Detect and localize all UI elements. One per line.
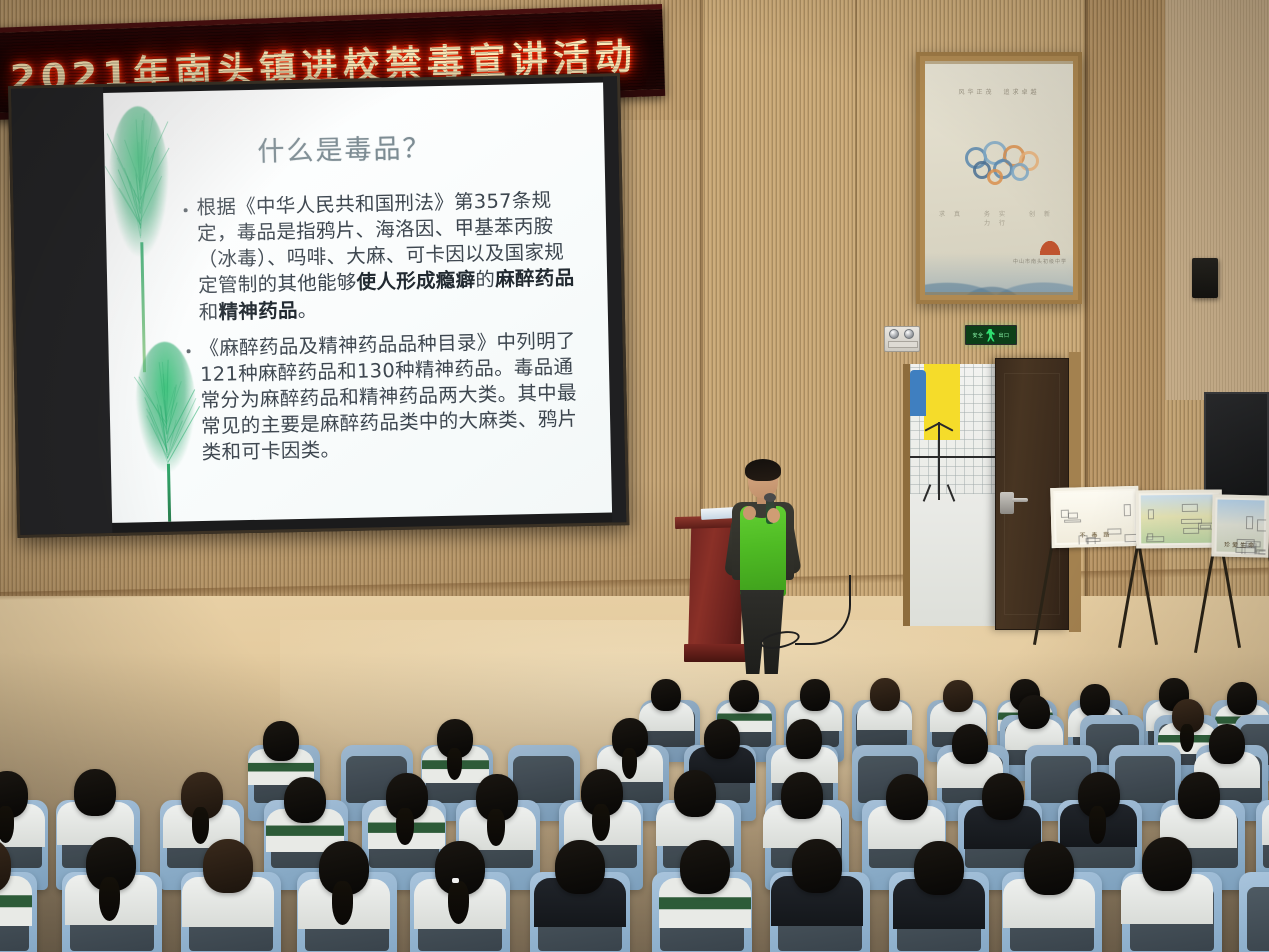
student-ponytail	[1089, 806, 1107, 843]
student-ponytail	[332, 881, 353, 924]
presenter-hand-left	[743, 506, 756, 520]
artwork-canvas: 不 毒 路	[1055, 491, 1134, 543]
student-head	[914, 841, 964, 895]
far-right-wall	[1165, 0, 1269, 400]
artwork-canvas: 珍爱生命	[1216, 500, 1264, 553]
cloud-swirl-icon	[1011, 163, 1029, 181]
coat-rack	[938, 422, 940, 500]
slide-bullet-text: 《麻醉药品及精神药品品种目录》中列明了121种麻醉药品和130种精神药品。毒品通…	[199, 328, 587, 467]
presentation-slide: 什么是毒品？ 根据《中华人民共和国刑法》第357条规定，毒品是指鸦片、海洛因、甲…	[103, 83, 612, 523]
microphone-head	[764, 493, 776, 502]
student-artwork: 珍爱生命	[1211, 494, 1269, 557]
right-corner-wall	[1085, 0, 1165, 660]
student-ponytail	[622, 748, 637, 780]
student-head	[800, 679, 830, 711]
student-head	[982, 773, 1024, 820]
door-handle-lever[interactable]	[1012, 498, 1028, 502]
artwork-stroke	[1181, 503, 1197, 511]
exit-sign-left-text: 安全	[972, 332, 983, 339]
bullet-dot-icon	[184, 208, 188, 212]
bullet-dot-icon	[187, 349, 191, 353]
student-head	[203, 839, 253, 893]
student-head	[263, 721, 299, 761]
projection-screen: 什么是毒品？ 根据《中华人民共和国刑法》第357条规定，毒品是指鸦片、海洛因、甲…	[103, 83, 612, 523]
presenter	[718, 462, 802, 678]
projection-screen-frame: 什么是毒品？ 根据《中华人民共和国刑法》第357条规定，毒品是指鸦片、海洛因、甲…	[8, 73, 629, 538]
student-head	[704, 719, 740, 759]
artwork-stroke	[1148, 509, 1154, 519]
artwork-stroke	[1200, 524, 1211, 529]
corridor-blue-panel	[910, 370, 926, 416]
student-head	[651, 679, 681, 711]
cloud-swirl-icon	[987, 169, 1003, 185]
slide-bullet-text: 根据《中华人民共和国刑法》第357条规定，毒品是指鸦片、海洛因、甲基苯丙胺（冰毒…	[196, 187, 584, 326]
artwork-stroke	[1146, 536, 1164, 542]
student-head	[792, 839, 842, 893]
wall-seam	[1085, 0, 1088, 660]
poster-seam	[925, 292, 1073, 295]
auditorium-seat[interactable]	[1239, 872, 1269, 952]
student-head	[781, 772, 823, 819]
running-person-icon	[986, 329, 997, 342]
student-head	[1024, 841, 1074, 895]
student-ponytail	[1180, 724, 1193, 751]
student-head	[952, 724, 988, 764]
student-head	[1080, 684, 1110, 716]
student-ponytail	[592, 804, 610, 841]
screen-mask-left	[11, 87, 112, 535]
artwork-stroke	[1124, 504, 1131, 516]
student-head	[943, 680, 973, 712]
artwork-caption: 不 毒 路	[1056, 529, 1134, 540]
student-head	[1142, 837, 1192, 891]
student-head	[680, 840, 730, 894]
decorative-wall-poster: 风华正茂 追求卓越 求真 务实 创新 力行 中山市南头初级中学	[916, 52, 1082, 304]
student-artwork: 不 毒 路	[1050, 486, 1140, 548]
emergency-lamp-icon	[904, 329, 914, 339]
student-head	[1209, 724, 1245, 764]
wheat-stem	[167, 464, 171, 522]
wall-seam	[855, 0, 857, 640]
presenter-hand-right	[767, 508, 780, 523]
student-head	[1178, 772, 1220, 819]
artwork-stroke	[1246, 516, 1253, 529]
corridor-railing	[910, 456, 995, 458]
poster-paper: 风华正茂 追求卓越 求真 务实 创新 力行 中山市南头初级中学	[925, 61, 1073, 295]
exit-sign-right-text: 出口	[999, 332, 1010, 339]
wave-motif	[925, 253, 1073, 295]
student-ponytail	[448, 881, 469, 924]
presenter-hair	[745, 459, 781, 481]
poster-header-text: 风华正茂 追求卓越	[925, 87, 1073, 96]
artwork-stroke	[1183, 528, 1199, 534]
student-head	[74, 769, 116, 816]
cloud-motif-icon	[963, 139, 1043, 187]
student-head	[284, 777, 326, 824]
student-head	[786, 719, 822, 759]
student-artwork	[1136, 490, 1223, 549]
emergency-lamp-icon	[889, 329, 899, 339]
artwork-caption: 珍爱生命	[1217, 540, 1264, 550]
emergency-exit-sign: 安全 出口	[965, 325, 1017, 345]
artwork-stroke	[1257, 519, 1269, 531]
student-head	[870, 678, 900, 710]
auditorium-photo: 2021年南头镇进校禁毒宣讲活动 什么是毒品？ 根据《中华人民共和国刑法》第35…	[0, 0, 1269, 952]
student-head	[674, 770, 716, 817]
student-ponytail	[99, 877, 120, 920]
emergency-light-body	[888, 341, 918, 348]
slide-bullet: 根据《中华人民共和国刑法》第357条规定，毒品是指鸦片、海洛因、甲基苯丙胺（冰毒…	[183, 187, 584, 326]
poster-seam	[925, 61, 1073, 64]
student-head	[729, 680, 759, 712]
student-head	[555, 840, 605, 894]
door-handle[interactable]	[1000, 492, 1014, 514]
artwork-canvas	[1141, 495, 1217, 544]
student-head	[886, 774, 928, 821]
poster-subtitle-text: 求真 务实 创新 力行	[925, 209, 1073, 227]
slide-title: 什么是毒品？	[104, 123, 585, 172]
student-head	[1227, 682, 1257, 714]
student-ponytail	[487, 809, 505, 846]
open-doorway	[903, 364, 995, 626]
artwork-stroke	[1259, 550, 1269, 555]
slide-body: 根据《中华人民共和国刑法》第357条规定，毒品是指鸦片、海洛因、甲基苯丙胺（冰毒…	[183, 187, 587, 477]
artwork-stroke	[1068, 512, 1078, 519]
artwork-stroke	[1064, 519, 1081, 523]
wall-speaker	[1192, 258, 1218, 298]
hair-tie	[452, 878, 459, 883]
student-head	[1018, 695, 1050, 729]
emergency-light	[884, 326, 920, 352]
student-ponytail	[447, 748, 462, 780]
slide-bullet: 《麻醉药品及精神药品品种目录》中列明了121种麻醉药品和130种精神药品。毒品通…	[186, 328, 587, 467]
wheat-stem	[140, 242, 146, 372]
